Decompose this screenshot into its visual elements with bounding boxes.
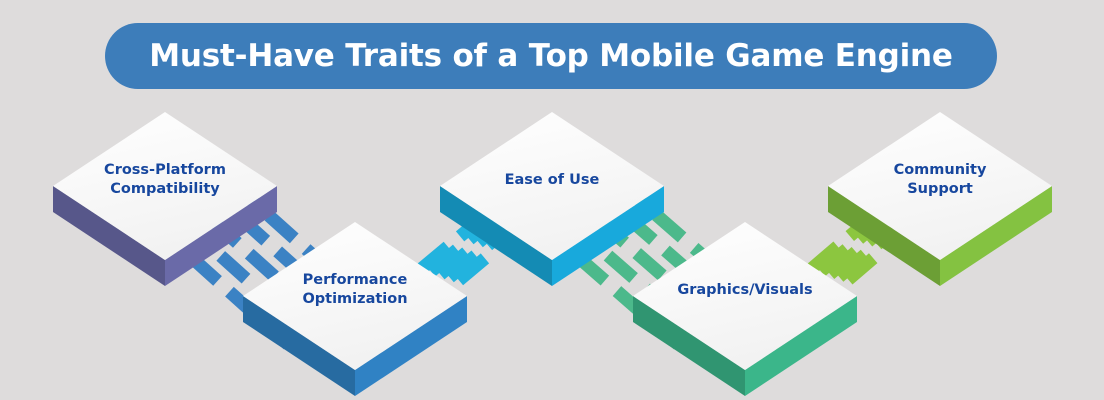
- node-top-face: [633, 222, 857, 370]
- diagram-node-performance-optimization[interactable]: [243, 222, 467, 396]
- node-top-face: [53, 112, 277, 260]
- node-layer: [53, 112, 1052, 396]
- diagram-node-cross-platform-compatibility[interactable]: [53, 112, 277, 286]
- node-top-face: [243, 222, 467, 370]
- page-title: Must-Have Traits of a Top Mobile Game En…: [149, 38, 952, 74]
- infographic-canvas: Must-Have Traits of a Top Mobile Game En…: [0, 0, 1104, 400]
- title-banner: Must-Have Traits of a Top Mobile Game En…: [105, 23, 997, 89]
- diagram-node-graphics-visuals[interactable]: [633, 222, 857, 396]
